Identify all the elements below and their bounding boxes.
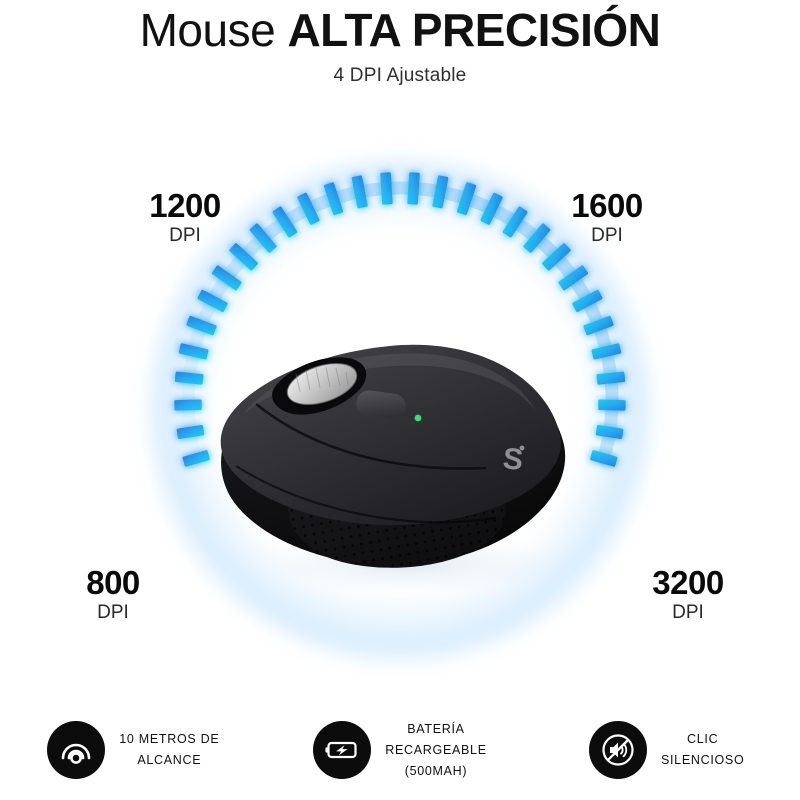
feature-item-silent-click: CLIC SILENCIOSO — [533, 721, 800, 779]
dpi-unit: DPI — [628, 601, 748, 625]
product-infographic: Mouse ALTA PRECISIÓN 4 DPI Ajustable — [0, 0, 800, 800]
dpi-unit: DPI — [552, 224, 662, 248]
dpi-dial: S 800 DPI 1200 DPI 1600 DPI 3200 DPI — [0, 100, 800, 680]
battery-charging-icon — [313, 721, 371, 779]
feature-line: RECARGEABLE — [385, 740, 486, 761]
dial-tick — [596, 371, 625, 384]
mute-speaker-icon — [589, 721, 647, 779]
title-light-part: Mouse — [140, 4, 288, 56]
feature-label-silent-click: CLIC SILENCIOSO — [661, 729, 744, 771]
dpi-label-1200: 1200 DPI — [130, 188, 240, 248]
feature-item-battery: BATERÍA RECARGEABLE (500MAH) — [267, 719, 534, 782]
dial-tick — [407, 172, 420, 205]
mouse-product-image: S — [196, 296, 596, 596]
dpi-value: 800 — [58, 565, 168, 601]
dial-tick — [596, 425, 624, 439]
dial-tick — [380, 172, 393, 205]
dial-tick — [598, 400, 626, 411]
dpi-value: 1600 — [552, 188, 662, 224]
feature-line: 10 METROS DE — [119, 729, 219, 750]
page-subtitle: 4 DPI Ajustable — [0, 64, 800, 88]
feature-item-range: 10 METROS DE ALCANCE — [0, 721, 267, 779]
feature-label-battery: BATERÍA RECARGEABLE (500MAH) — [385, 719, 486, 782]
page-title: Mouse ALTA PRECISIÓN — [0, 2, 800, 58]
dpi-unit: DPI — [130, 224, 240, 248]
feature-line: ALCANCE — [119, 750, 219, 771]
dpi-label-3200: 3200 DPI — [628, 565, 748, 625]
dpi-unit: DPI — [58, 601, 168, 625]
title-bold-part: ALTA PRECISIÓN — [287, 4, 660, 56]
wireless-signal-icon — [47, 721, 105, 779]
feature-line: CLIC — [661, 729, 744, 750]
header: Mouse ALTA PRECISIÓN 4 DPI Ajustable — [0, 0, 800, 88]
dpi-label-800: 800 DPI — [58, 565, 168, 625]
dpi-value: 1200 — [130, 188, 240, 224]
feature-line: (500MAH) — [385, 761, 486, 782]
feature-label-range: 10 METROS DE ALCANCE — [119, 729, 219, 771]
feature-line: SILENCIOSO — [661, 750, 744, 771]
dpi-label-1600: 1600 DPI — [552, 188, 662, 248]
dpi-value: 3200 — [628, 565, 748, 601]
feature-line: BATERÍA — [385, 719, 486, 740]
feature-strip: 10 METROS DE ALCANCE BATERÍA RECARGEABLE… — [0, 700, 800, 800]
